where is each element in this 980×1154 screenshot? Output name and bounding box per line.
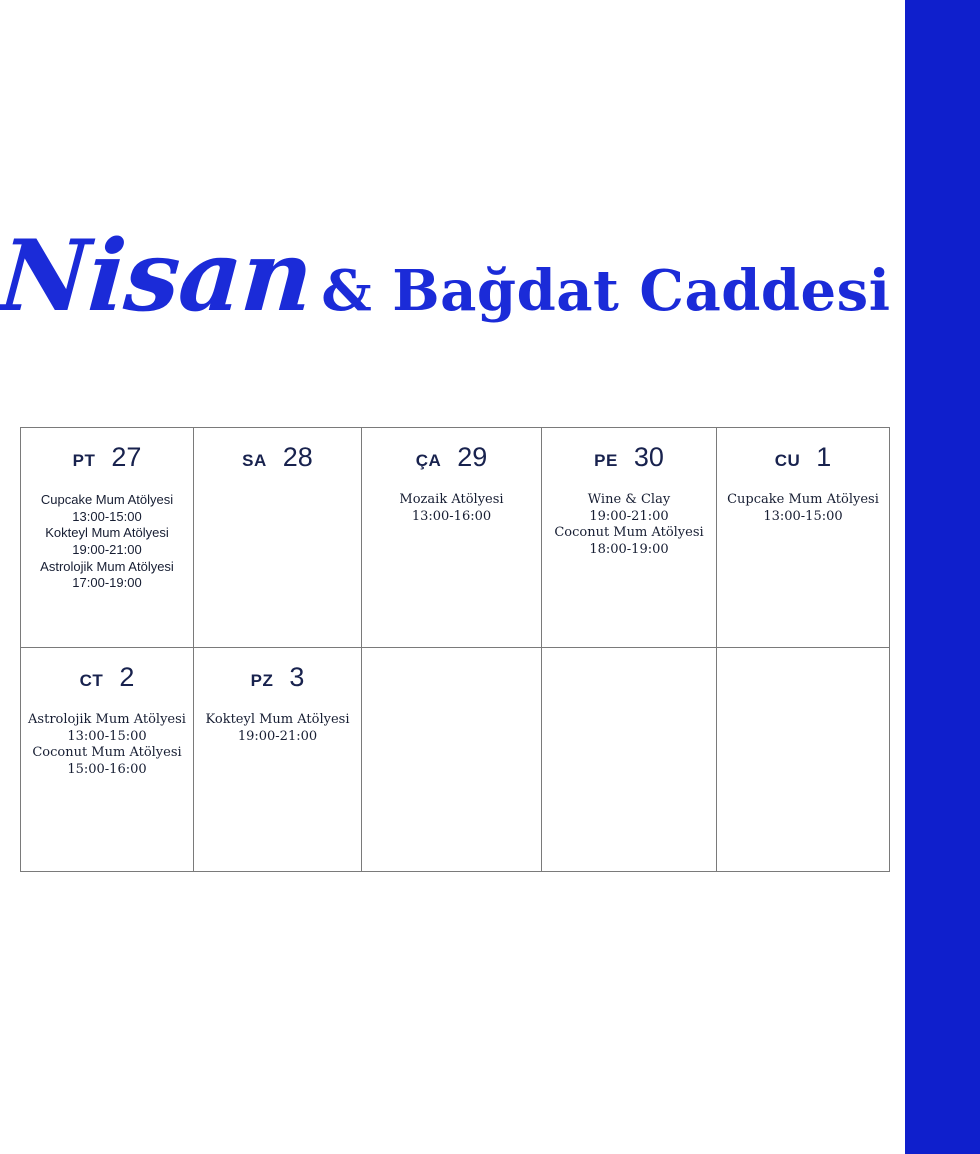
- calendar-day-cell[interactable]: SA28: [194, 428, 362, 647]
- event-time: 18:00-19:00: [542, 542, 716, 559]
- day-of-week-label: CU: [775, 451, 801, 471]
- event-time: 19:00-21:00: [194, 729, 361, 746]
- event-list: Wine & Clay19:00-21:00Coconut Mum Atölye…: [542, 492, 716, 559]
- event-item[interactable]: Cupcake Mum Atölyesi13:00-15:00: [21, 492, 193, 525]
- event-list: Mozaik Atölyesi13:00-16:00: [362, 492, 541, 525]
- event-time: 19:00-21:00: [542, 509, 716, 526]
- calendar-empty-cell[interactable]: [362, 648, 542, 871]
- event-time: 17:00-19:00: [21, 575, 193, 592]
- day-header: [717, 648, 889, 700]
- day-number: 29: [457, 444, 487, 471]
- day-number: 1: [816, 444, 831, 471]
- event-list: Cupcake Mum Atölyesi13:00-15:00Kokteyl M…: [21, 492, 193, 592]
- day-number: 2: [119, 664, 134, 691]
- event-item[interactable]: Kokteyl Mum Atölyesi19:00-21:00: [21, 525, 193, 558]
- event-list: Astrolojik Mum Atölyesi13:00-15:00Coconu…: [21, 712, 193, 779]
- event-name: Kokteyl Mum Atölyesi: [194, 712, 361, 729]
- calendar-day-cell[interactable]: CU1Cupcake Mum Atölyesi13:00-15:00: [717, 428, 889, 647]
- event-item[interactable]: Coconut Mum Atölyesi18:00-19:00: [542, 525, 716, 558]
- event-name: Coconut Mum Atölyesi: [542, 525, 716, 542]
- event-item[interactable]: Mozaik Atölyesi13:00-16:00: [362, 492, 541, 525]
- event-time: 15:00-16:00: [21, 762, 193, 779]
- day-header: ÇA29: [362, 428, 541, 480]
- event-time: 13:00-15:00: [21, 509, 193, 526]
- day-of-week-label: PT: [73, 451, 96, 471]
- day-header: [542, 648, 716, 700]
- day-number: 30: [634, 444, 664, 471]
- calendar-week-row: PT27Cupcake Mum Atölyesi13:00-15:00Kokte…: [21, 428, 889, 647]
- event-list: Kokteyl Mum Atölyesi19:00-21:00: [194, 712, 361, 745]
- event-name: Astrolojik Mum Atölyesi: [21, 712, 193, 729]
- day-of-week-label: SA: [242, 451, 267, 471]
- event-name: Coconut Mum Atölyesi: [21, 745, 193, 762]
- event-time: 13:00-16:00: [362, 509, 541, 526]
- event-item[interactable]: Astrolojik Mum Atölyesi17:00-19:00: [21, 559, 193, 592]
- calendar-day-cell[interactable]: ÇA29Mozaik Atölyesi13:00-16:00: [362, 428, 542, 647]
- calendar-empty-cell[interactable]: [717, 648, 889, 871]
- day-number: 3: [289, 664, 304, 691]
- event-list: Cupcake Mum Atölyesi13:00-15:00: [717, 492, 889, 525]
- event-item[interactable]: Coconut Mum Atölyesi15:00-16:00: [21, 745, 193, 778]
- day-header: PE30: [542, 428, 716, 480]
- event-item[interactable]: Astrolojik Mum Atölyesi13:00-15:00: [21, 712, 193, 745]
- event-item[interactable]: Wine & Clay19:00-21:00: [542, 492, 716, 525]
- day-header: SA28: [194, 428, 361, 480]
- event-time: 19:00-21:00: [21, 542, 193, 559]
- day-number: 27: [111, 444, 141, 471]
- calendar-day-cell[interactable]: CT2Astrolojik Mum Atölyesi13:00-15:00Coc…: [21, 648, 194, 871]
- title-month: Nisan: [0, 228, 315, 326]
- day-of-week-label: CT: [80, 671, 104, 691]
- day-of-week-label: PE: [594, 451, 618, 471]
- day-of-week-label: ÇA: [416, 451, 442, 471]
- calendar-day-cell[interactable]: PE30Wine & Clay19:00-21:00Coconut Mum At…: [542, 428, 717, 647]
- event-time: 13:00-15:00: [21, 729, 193, 746]
- day-of-week-label: PZ: [251, 671, 274, 691]
- event-name: Astrolojik Mum Atölyesi: [21, 559, 193, 576]
- day-header: CU1: [717, 428, 889, 480]
- event-name: Mozaik Atölyesi: [362, 492, 541, 509]
- calendar-grid: PT27Cupcake Mum Atölyesi13:00-15:00Kokte…: [20, 427, 890, 872]
- event-item[interactable]: Kokteyl Mum Atölyesi19:00-21:00: [194, 712, 361, 745]
- event-item[interactable]: Cupcake Mum Atölyesi13:00-15:00: [717, 492, 889, 525]
- event-time: 13:00-15:00: [717, 509, 889, 526]
- calendar-day-cell[interactable]: PZ3Kokteyl Mum Atölyesi19:00-21:00: [194, 648, 362, 871]
- day-header: PZ3: [194, 648, 361, 700]
- event-name: Wine & Clay: [542, 492, 716, 509]
- title-location: & Bağdat Caddesi: [321, 263, 890, 319]
- calendar-day-cell[interactable]: PT27Cupcake Mum Atölyesi13:00-15:00Kokte…: [21, 428, 194, 647]
- day-header: PT27: [21, 428, 193, 480]
- page-title: Nisan & Bağdat Caddesi: [0, 228, 890, 338]
- calendar-empty-cell[interactable]: [542, 648, 717, 871]
- day-header: CT2: [21, 648, 193, 700]
- day-number: 28: [283, 444, 313, 471]
- right-blue-stripe: [905, 0, 980, 1154]
- day-header: [362, 648, 541, 700]
- event-name: Cupcake Mum Atölyesi: [717, 492, 889, 509]
- calendar-week-row: CT2Astrolojik Mum Atölyesi13:00-15:00Coc…: [21, 647, 889, 871]
- event-name: Cupcake Mum Atölyesi: [21, 492, 193, 509]
- event-name: Kokteyl Mum Atölyesi: [21, 525, 193, 542]
